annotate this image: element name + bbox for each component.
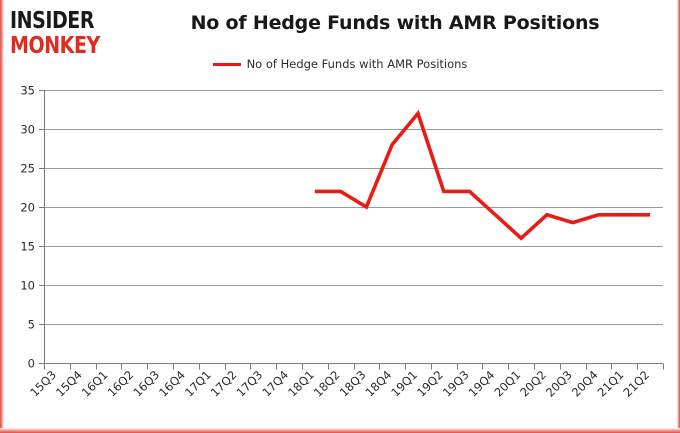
x-axis-tick-label: 15Q3: [27, 368, 59, 400]
x-axis-labels-group: 15Q315Q416Q116Q216Q316Q417Q117Q217Q317Q4…: [27, 368, 652, 400]
y-axis-tick-label: 5: [28, 318, 35, 332]
y-axis-ticks-group: [39, 91, 44, 364]
x-axis-tick-label: 18Q3: [337, 368, 369, 400]
y-axis-tick-label: 10: [20, 279, 35, 293]
x-axis-tick-label: 17Q4: [259, 368, 291, 400]
y-axis-tick-label: 35: [20, 84, 35, 98]
y-axis-tick-label: 20: [20, 201, 35, 215]
chart-plot-area: 05101520253035 15Q315Q416Q116Q216Q316Q41…: [0, 0, 680, 433]
x-axis-tick-label: 19Q3: [440, 368, 472, 400]
x-axis-tick-label: 16Q3: [130, 368, 162, 400]
x-axis-tick-label: 19Q1: [388, 368, 420, 400]
y-axis-tick-label: 30: [20, 123, 35, 137]
x-axis-tick-label: 18Q4: [362, 368, 394, 400]
line-chart-svg: 05101520253035 15Q315Q416Q116Q216Q316Q41…: [0, 0, 680, 433]
chart-screenshot: INSIDER MONKEY No of Hedge Funds with AM…: [0, 0, 680, 433]
x-axis-tick-label: 20Q2: [517, 368, 549, 400]
x-axis-tick-label: 16Q1: [79, 368, 111, 400]
gridlines-group: [44, 90, 663, 364]
series-group: [315, 113, 650, 238]
x-axis-tick-label: 17Q2: [208, 368, 240, 400]
x-axis-tick-label: 18Q2: [311, 368, 343, 400]
x-axis-tick-label: 18Q1: [285, 368, 317, 400]
y-axis-labels-group: 05101520253035: [20, 84, 35, 371]
series-line-0: [315, 113, 650, 238]
x-axis-tick-label: 21Q2: [620, 368, 652, 400]
x-axis-tick-label: 20Q4: [569, 368, 601, 400]
x-axis-tick-label: 21Q1: [595, 368, 627, 400]
x-axis-tick-label: 20Q1: [491, 368, 523, 400]
y-axis-tick-label: 0: [28, 357, 35, 371]
x-axis-tick-label: 17Q1: [182, 368, 214, 400]
x-axis-tick-label: 16Q2: [105, 368, 137, 400]
y-axis-tick-label: 15: [20, 240, 35, 254]
x-axis-tick-label: 19Q2: [414, 368, 446, 400]
y-axis-tick-label: 25: [20, 162, 35, 176]
x-axis-tick-label: 15Q4: [53, 368, 85, 400]
x-axis-ticks-group: [45, 364, 664, 370]
x-axis-tick-label: 17Q3: [234, 368, 266, 400]
x-axis-tick-label: 20Q3: [543, 368, 575, 400]
x-axis-tick-label: 16Q4: [156, 368, 188, 400]
x-axis-tick-label: 19Q4: [466, 368, 498, 400]
